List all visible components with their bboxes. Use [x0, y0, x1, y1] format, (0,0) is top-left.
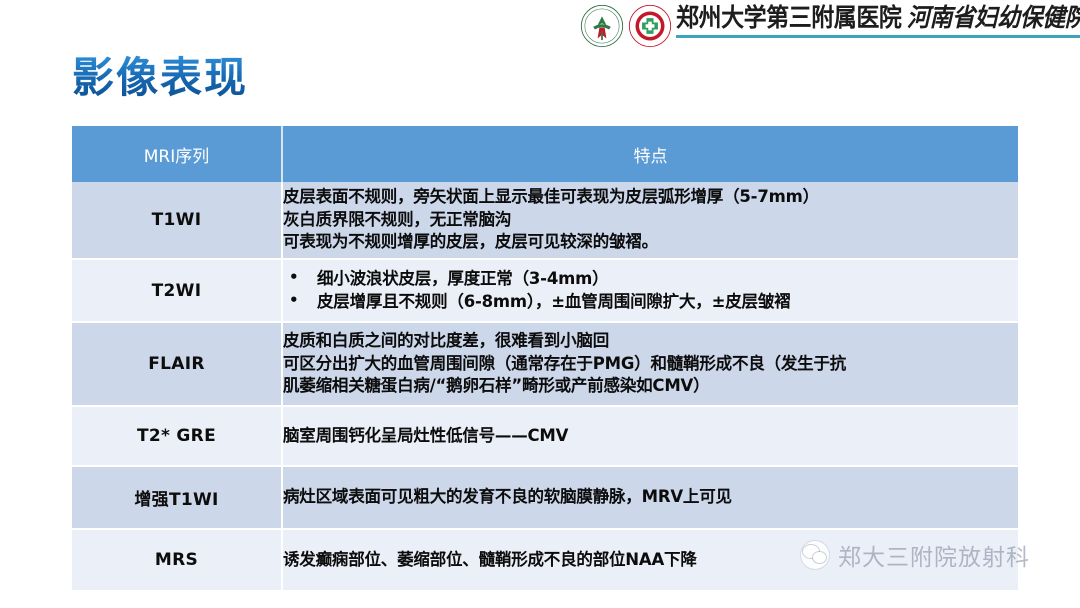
feature-line: 皮层表面不规则，旁矢状面上显示最佳可表现为皮层弧形增厚（5-7mm） — [283, 186, 1018, 209]
features-cell: 皮层表面不规则，旁矢状面上显示最佳可表现为皮层弧形增厚（5-7mm） 灰白质界限… — [283, 182, 1018, 260]
table-body: T1WI 皮层表面不规则，旁矢状面上显示最佳可表现为皮层弧形增厚（5-7mm） … — [72, 182, 1018, 592]
features-cell: 细小波浪状皮层，厚度正常（3-4mm） 皮层增厚且不规则（6-8mm），±血管周… — [283, 260, 1018, 323]
table-header: MRI序列 特点 — [72, 126, 1018, 182]
feature-line: 诱发癫痫部位、萎缩部位、髓鞘形成不良的部位NAA下降 — [283, 549, 1018, 572]
feature-line: 细小波浪状皮层，厚度正常（3-4mm） — [283, 268, 1018, 291]
zhengzhou-university-seal-icon — [580, 4, 624, 48]
sequence-label: T2* GRE — [72, 407, 283, 467]
feature-line: 脑室周围钙化呈局灶性低信号——CMV — [283, 425, 1018, 448]
hospital-red-cross-emblem-icon — [628, 4, 672, 48]
column-header-features: 特点 — [283, 126, 1018, 182]
table-row: T1WI 皮层表面不规则，旁矢状面上显示最佳可表现为皮层弧形增厚（5-7mm） … — [72, 182, 1018, 260]
institution-secondary: 河南省妇幼保健院 — [907, 4, 1080, 32]
feature-line: 灰白质界限不规则，无正常脑沟 — [283, 209, 1018, 232]
features-cell: 诱发癫痫部位、萎缩部位、髓鞘形成不良的部位NAA下降 — [283, 530, 1018, 592]
table-row: T2* GRE 脑室周围钙化呈局灶性低信号——CMV — [72, 407, 1018, 467]
feature-line: 皮层增厚且不规则（6-8mm），±血管周围间隙扩大，±皮层皱褶 — [283, 291, 1018, 314]
features-cell: 皮质和白质之间的对比度差，很难看到小脑回 可区分出扩大的血管周围间隙（通常存在于… — [283, 323, 1018, 407]
sequence-label: 增强T1WI — [72, 467, 283, 530]
feature-line: 皮质和白质之间的对比度差，很难看到小脑回 — [283, 330, 1018, 353]
mri-findings-table: MRI序列 特点 T1WI 皮层表面不规则，旁矢状面上显示最佳可表现为皮层弧形增… — [72, 126, 1018, 592]
table-row: T2WI 细小波浪状皮层，厚度正常（3-4mm） 皮层增厚且不规则（6-8mm）… — [72, 260, 1018, 323]
brand-divider-rule — [676, 35, 1080, 38]
table-header-row: MRI序列 特点 — [72, 126, 1018, 182]
table-row: 增强T1WI 病灶区域表面可见粗大的发育不良的软脑膜静脉，MRV上可见 — [72, 467, 1018, 530]
feature-line: 肌萎缩相关糖蛋白病/“鹅卵石样”畸形或产前感染如CMV） — [283, 375, 1018, 398]
table-row: MRS 诱发癫痫部位、萎缩部位、髓鞘形成不良的部位NAA下降 — [72, 530, 1018, 592]
brand-text-wrap: 郑州大学第三附属医院河南省妇幼保健院 — [672, 4, 1080, 38]
sequence-label: FLAIR — [72, 323, 283, 407]
institution-names: 郑州大学第三附属医院河南省妇幼保健院 — [676, 4, 1048, 32]
table-row: FLAIR 皮质和白质之间的对比度差，很难看到小脑回 可区分出扩大的血管周围间隙… — [72, 323, 1018, 407]
feature-line: 病灶区域表面可见粗大的发育不良的软脑膜静脉，MRV上可见 — [283, 486, 1018, 509]
sequence-label: T2WI — [72, 260, 283, 323]
feature-line: 可区分出扩大的血管周围间隙（通常存在于PMG）和髓鞘形成不良（发生于抗 — [283, 353, 1018, 376]
features-cell: 病灶区域表面可见粗大的发育不良的软脑膜静脉，MRV上可见 — [283, 467, 1018, 530]
institution-primary: 郑州大学第三附属医院 — [676, 4, 901, 32]
page-title: 影像表现 — [72, 54, 248, 102]
sequence-label: MRS — [72, 530, 283, 592]
logo-group — [580, 4, 672, 48]
sequence-label: T1WI — [72, 182, 283, 260]
feature-line: 可表现为不规则增厚的皮层，皮层可见较深的皱褶。 — [283, 231, 1018, 254]
features-cell: 脑室周围钙化呈局灶性低信号——CMV — [283, 407, 1018, 467]
branding-header: 郑州大学第三附属医院河南省妇幼保健院 — [580, 0, 1080, 54]
column-header-sequence: MRI序列 — [72, 126, 283, 182]
